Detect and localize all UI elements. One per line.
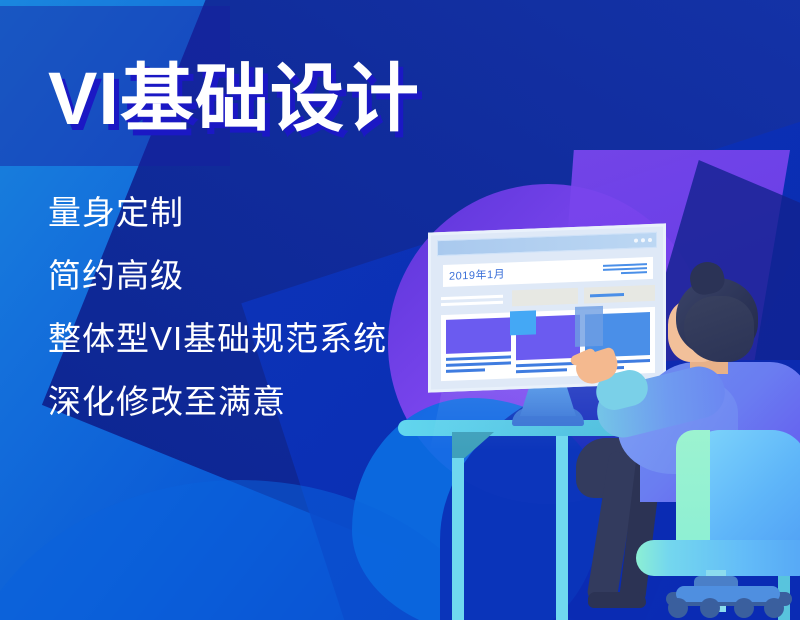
window-dot-icon <box>641 238 645 242</box>
feature-item-1: 量身定制 <box>48 196 387 229</box>
monitor-screen: 2019年1月 <box>428 223 666 392</box>
feature-item-4: 深化修改至满意 <box>48 385 387 418</box>
chair-wheel <box>764 598 784 618</box>
content-card <box>446 317 511 353</box>
content-text-lines <box>516 362 581 373</box>
chair-wheel <box>668 598 688 618</box>
browser-titlebar <box>437 232 657 256</box>
toolbar-chip-mini <box>584 285 655 304</box>
monitor-frame: 2019年1月 <box>428 223 666 392</box>
person-shoe <box>588 592 646 608</box>
feature-item-3: 整体型VI基础规范系统 <box>48 322 387 355</box>
toolbar-lines <box>441 291 506 310</box>
desk-leg-left <box>452 432 464 620</box>
address-bar-text: 2019年1月 <box>449 266 505 284</box>
browser-address-bar: 2019年1月 <box>443 257 653 287</box>
content-text-lines <box>446 355 511 372</box>
content-accent-block <box>510 310 536 335</box>
address-bar-lines <box>603 263 647 275</box>
desk-leg-middle <box>556 432 568 620</box>
window-dot-icon <box>634 239 638 243</box>
content-accent-block <box>575 306 603 347</box>
chair-wheel <box>700 598 720 618</box>
content-card <box>516 315 581 360</box>
toolbar-row <box>441 285 655 309</box>
chair-base <box>676 586 780 602</box>
page-title: VI基础设计 <box>48 62 420 136</box>
content-column-middle <box>516 315 581 373</box>
headline-block: VI基础设计 <box>48 62 420 136</box>
screen-content <box>441 307 655 381</box>
window-dot-icon <box>648 238 652 242</box>
toolbar-chip <box>512 288 577 307</box>
promo-banner: VI基础设计 量身定制 简约高级 整体型VI基础规范系统 深化修改至满意 201… <box>0 0 800 620</box>
person-hair-front <box>684 296 754 362</box>
feature-list: 量身定制 简约高级 整体型VI基础规范系统 深化修改至满意 <box>48 196 387 418</box>
feature-item-2: 简约高级 <box>48 259 387 292</box>
content-column-left <box>446 317 511 375</box>
chair-wheel <box>734 598 754 618</box>
